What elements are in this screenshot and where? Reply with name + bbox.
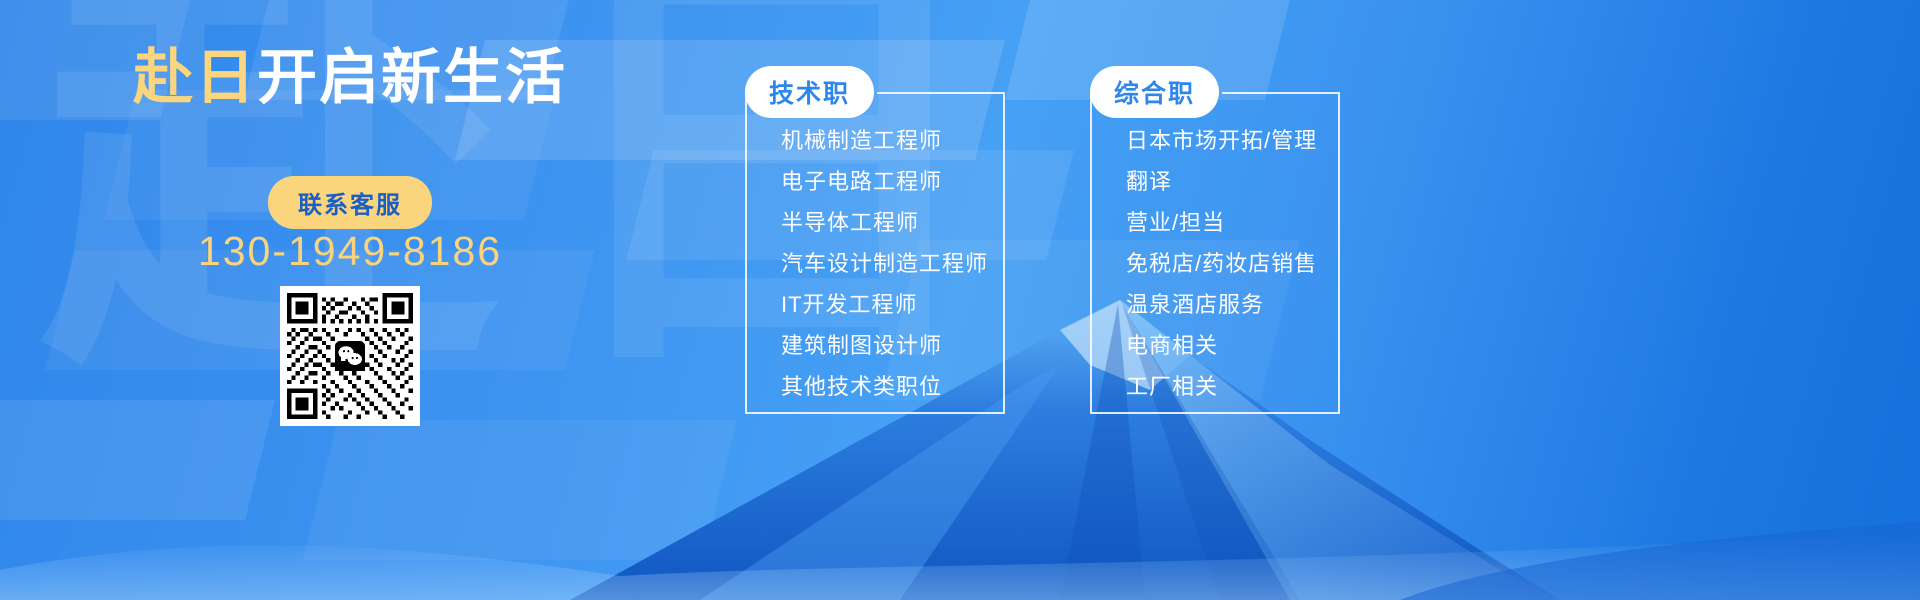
list-item[interactable]: 温泉酒店服务 bbox=[1126, 284, 1338, 325]
qr-code-icon bbox=[287, 293, 413, 419]
promotional-banner: 赴日 bbox=[0, 0, 1920, 600]
left-content-block: 赴日开启新生活 联系客服 130-1949-8186 bbox=[0, 0, 700, 600]
phone-number[interactable]: 130-1949-8186 bbox=[0, 228, 700, 275]
wechat-qr-code[interactable] bbox=[280, 286, 420, 426]
list-item[interactable]: 建筑制图设计师 bbox=[781, 325, 1003, 366]
list-item[interactable]: 电商相关 bbox=[1126, 325, 1338, 366]
list-item[interactable]: 翻译 bbox=[1126, 161, 1338, 202]
contact-support-button[interactable]: 联系客服 bbox=[268, 176, 432, 229]
page-title-accent: 赴日 bbox=[133, 44, 257, 111]
list-item[interactable]: 营业/担当 bbox=[1126, 202, 1338, 243]
page-title-rest: 开启新生活 bbox=[257, 44, 567, 111]
list-item[interactable]: 工厂相关 bbox=[1126, 366, 1338, 407]
job-list-general: 日本市场开拓/管理 翻译 营业/担当 免税店/药妆店销售 温泉酒店服务 电商相关… bbox=[1090, 94, 1340, 414]
list-item[interactable]: 汽车设计制造工程师 bbox=[781, 243, 1003, 284]
page-title: 赴日开启新生活 bbox=[0, 48, 700, 108]
badge-general[interactable]: 综合职 bbox=[1090, 66, 1219, 118]
list-item[interactable]: 电子电路工程师 bbox=[781, 161, 1003, 202]
job-column-general: 综合职 日本市场开拓/管理 翻译 营业/担当 免税店/药妆店销售 温泉酒店服务 … bbox=[1090, 92, 1340, 414]
list-item[interactable]: 其他技术类职位 bbox=[781, 366, 1003, 407]
list-item[interactable]: 半导体工程师 bbox=[781, 202, 1003, 243]
list-item[interactable]: 机械制造工程师 bbox=[781, 120, 1003, 161]
job-list-technical: 机械制造工程师 电子电路工程师 半导体工程师 汽车设计制造工程师 IT开发工程师… bbox=[745, 94, 1005, 414]
job-column-technical: 技术职 机械制造工程师 电子电路工程师 半导体工程师 汽车设计制造工程师 IT开… bbox=[745, 92, 1005, 414]
list-item[interactable]: 日本市场开拓/管理 bbox=[1126, 120, 1338, 161]
list-item[interactable]: IT开发工程师 bbox=[781, 284, 1003, 325]
list-item[interactable]: 免税店/药妆店销售 bbox=[1126, 243, 1338, 284]
badge-technical[interactable]: 技术职 bbox=[745, 66, 874, 118]
